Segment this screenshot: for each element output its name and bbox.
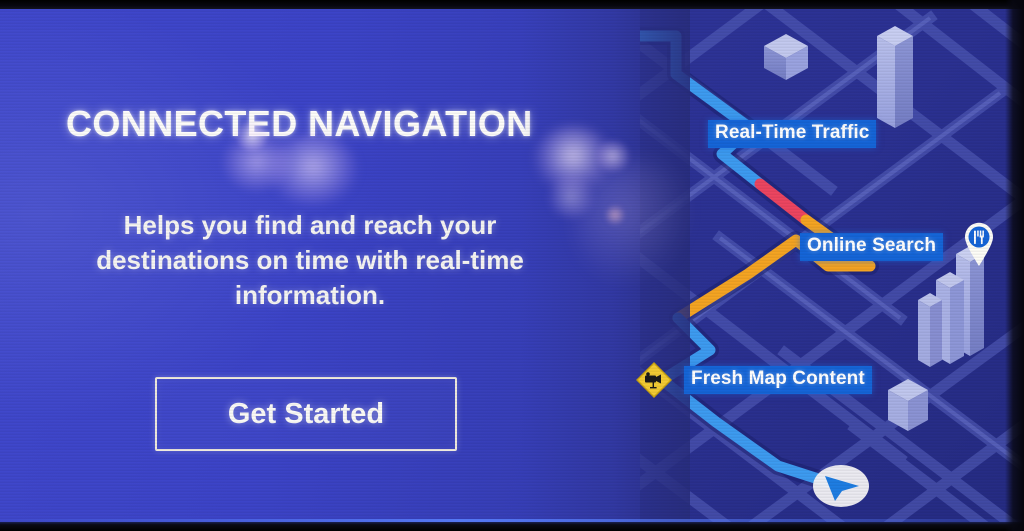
get-started-label: Get Started [228, 398, 384, 431]
building-low-block [888, 379, 928, 431]
display-area: Real-Time Traffic Online Search Fresh Ma… [0, 8, 1024, 522]
navigation-arrow-icon [812, 463, 870, 514]
speed-camera-warning-icon [636, 362, 672, 403]
bezel-bottom [0, 522, 1024, 531]
restaurant-pin-icon [962, 221, 996, 272]
map-label-online-search: Online Search [800, 233, 943, 261]
get-started-button[interactable]: Get Started [155, 377, 457, 451]
page-title: CONNECTED NAVIGATION [66, 103, 533, 145]
infotainment-screen: Real-Time Traffic Online Search Fresh Ma… [0, 0, 1024, 531]
page-description: Helps you find and reach your destinatio… [60, 208, 560, 313]
map-label-real-time-traffic: Real-Time Traffic [708, 120, 876, 148]
info-panel: CONNECTED NAVIGATION Helps you find and … [0, 8, 640, 522]
map-illustration [600, 8, 1024, 522]
building-tall-slab [877, 26, 913, 128]
map-label-fresh-map-content: Fresh Map Content [684, 366, 872, 394]
